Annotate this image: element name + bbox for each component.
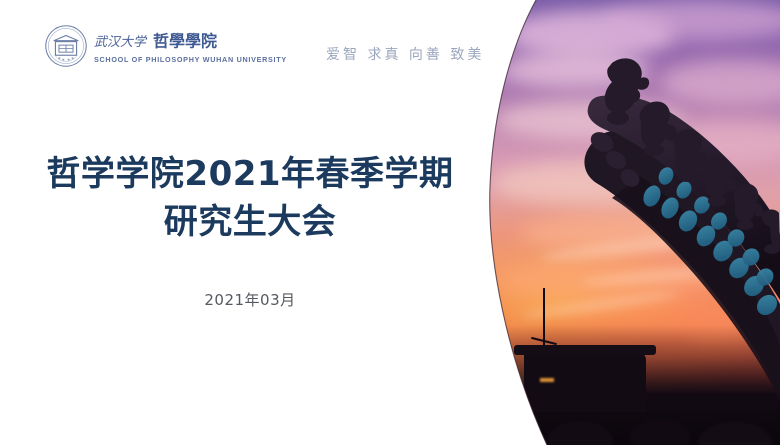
school-motto: 爱智 求真 向善 致美 <box>326 44 484 64</box>
school-name-chinese: 武汉大学 哲學學院 <box>94 28 244 52</box>
page-title: 哲学学院2021年春季学期 研究生大会 <box>0 150 500 246</box>
page-title-line-2: 研究生大会 <box>0 198 500 246</box>
presentation-date: 2021年03月 <box>0 289 500 310</box>
school-name-english: SCHOOL OF PHILOSOPHY WUHAN UNIVERSITY <box>94 55 287 64</box>
school-logo: 武汉大学 哲學學院 SCHOOL OF PHILOSOPHY WUHAN UNI… <box>44 24 287 68</box>
presentation-title-slide: 武汉大学 哲學學院 SCHOOL OF PHILOSOPHY WUHAN UNI… <box>0 0 780 445</box>
page-title-line-1: 哲学学院2021年春季学期 <box>0 150 500 198</box>
college-name-cn: 哲學學院 <box>153 32 217 51</box>
university-name-cn: 武汉大学 <box>94 34 148 50</box>
wuhan-university-seal-icon <box>44 24 88 68</box>
